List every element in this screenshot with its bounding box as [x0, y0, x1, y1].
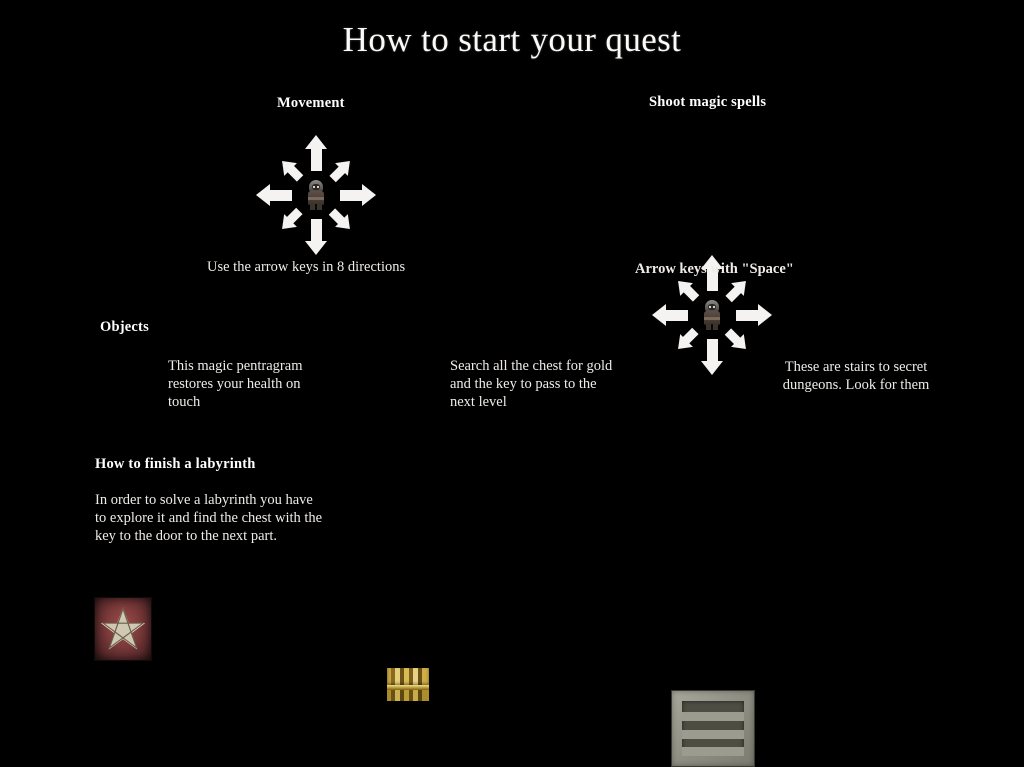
- spells-heading: Shoot magic spells: [649, 94, 766, 111]
- stairs-tile-icon: [671, 690, 755, 767]
- object-text-pentagram: This magic pentragram restores your heal…: [168, 357, 333, 411]
- page-title-part2: your quest: [531, 20, 682, 59]
- movement-caption: Use the arrow keys in 8 directions: [207, 259, 405, 276]
- objects-heading: Objects: [100, 319, 149, 336]
- pentagram-star-icon: [100, 606, 146, 652]
- movement-direction-diagram: [256, 135, 376, 255]
- spells-caption: Arrow keys with "Space": [635, 261, 794, 278]
- page-title-part1: How to start: [343, 20, 521, 59]
- object-text-chest: Search all the chest for gold and the ke…: [450, 357, 620, 411]
- gold-chest-icon: [387, 668, 429, 701]
- movement-heading: Movement: [277, 95, 345, 112]
- labyrinth-body-text: In order to solve a labyrinth you have t…: [95, 491, 327, 545]
- object-text-stairs: These are stairs to secret dungeons. Loo…: [766, 358, 946, 394]
- hero-character-sprite-icon: [306, 180, 326, 210]
- hero-character-sprite-icon: [702, 300, 722, 330]
- pentagram-tile-icon: [94, 597, 152, 661]
- labyrinth-heading: How to finish a labyrinth: [95, 456, 256, 473]
- page-title: How to startyour quest: [0, 20, 1024, 60]
